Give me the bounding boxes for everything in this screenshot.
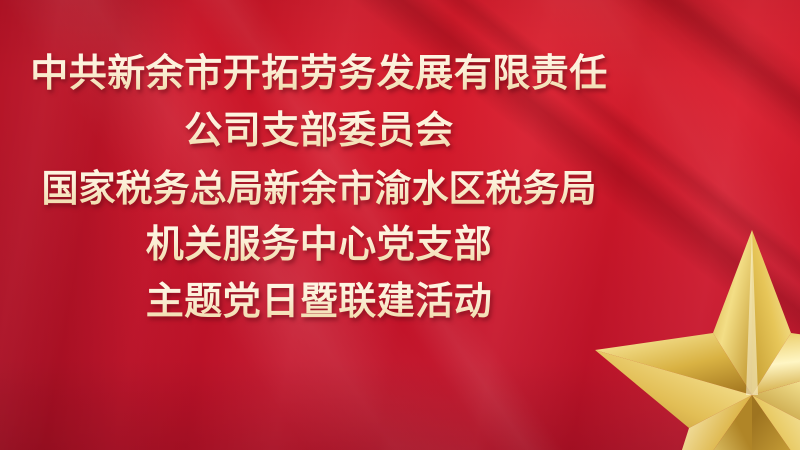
title-line-2: 公司支部委员会 — [0, 103, 638, 160]
title-line-5: 主题党日暨联建活动 — [0, 274, 638, 331]
banner-title-block: 中共新余市开拓劳务发展有限责任 公司支部委员会 国家税务总局新余市渝水区税务局 … — [0, 46, 638, 331]
banner-slide: 中共新余市开拓劳务发展有限责任 公司支部委员会 国家税务总局新余市渝水区税务局 … — [0, 0, 800, 450]
title-line-3: 国家税务总局新余市渝水区税务局 — [0, 160, 638, 217]
title-line-1: 中共新余市开拓劳务发展有限责任 — [0, 46, 638, 103]
title-line-4: 机关服务中心党支部 — [0, 217, 638, 274]
